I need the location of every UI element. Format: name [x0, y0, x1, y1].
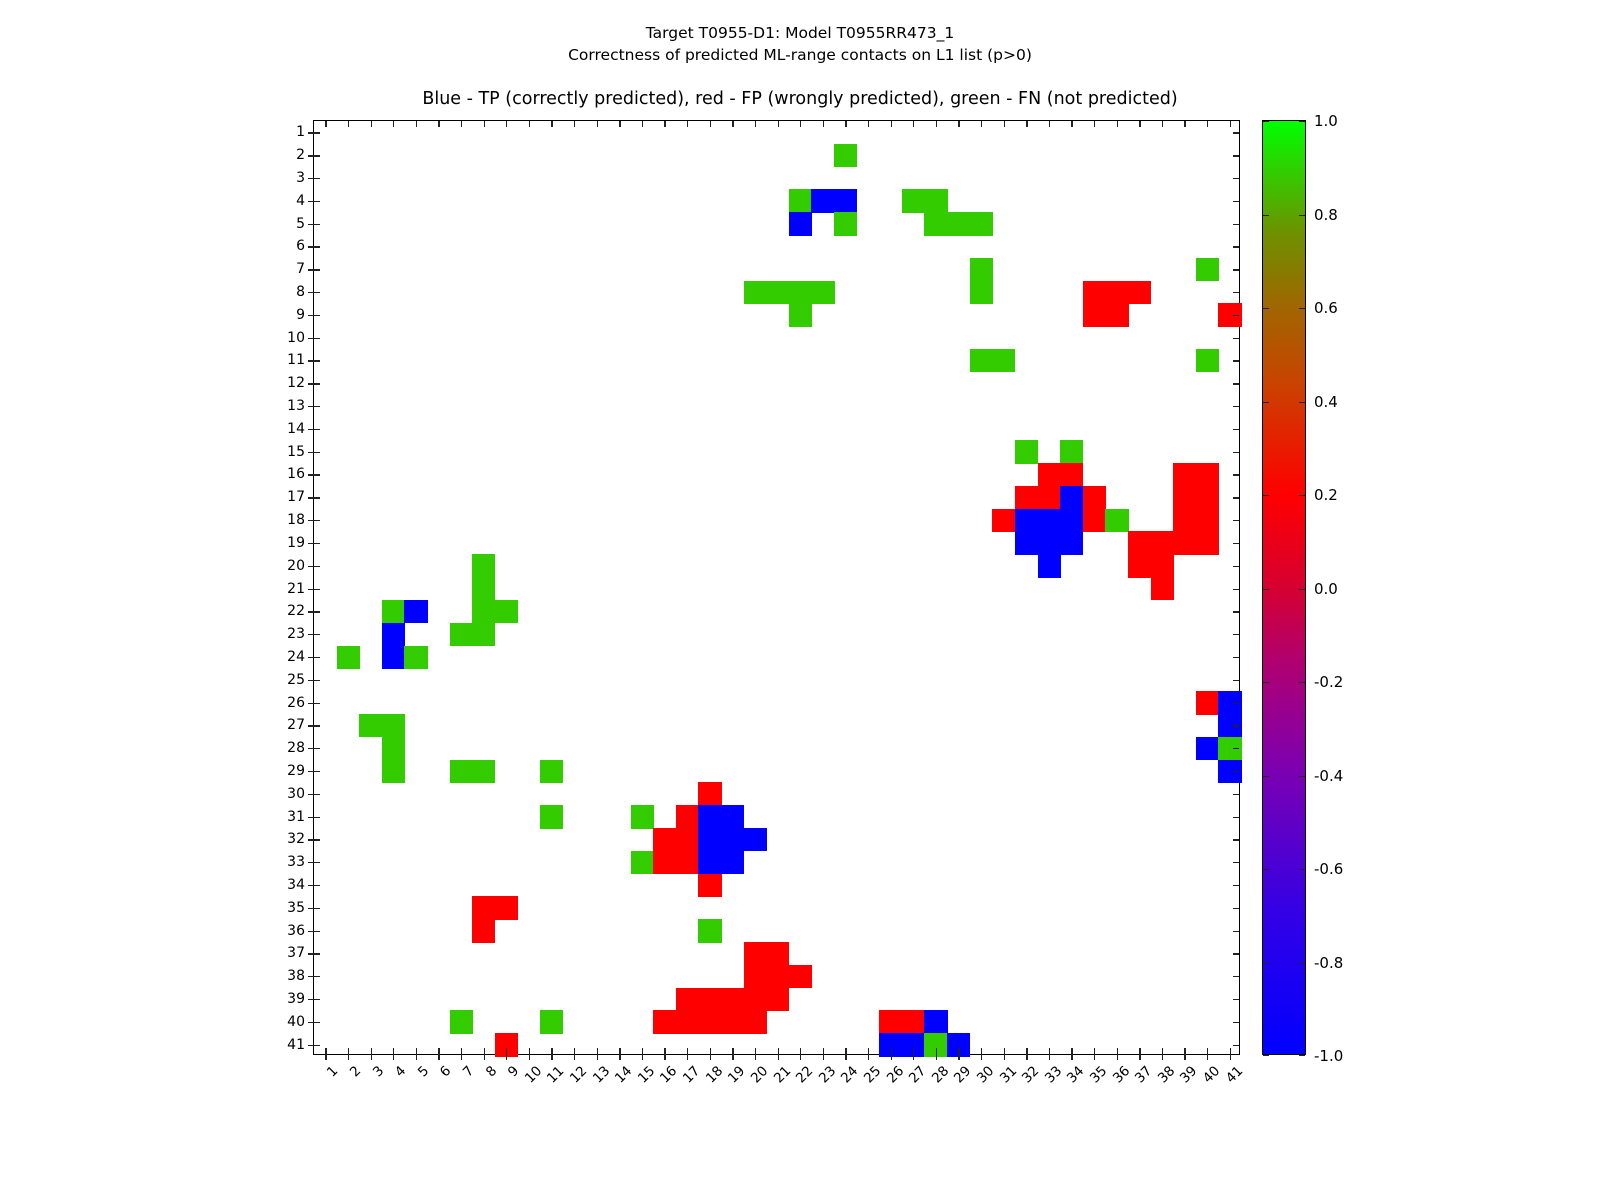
- y-tick-mark-inner: [314, 269, 320, 270]
- y-tick-mark-inner: [314, 817, 320, 818]
- y-tick-mark-inner: [314, 246, 320, 247]
- heatmap-cell: [811, 281, 834, 304]
- x-tick-mark: [1094, 1054, 1095, 1060]
- heatmap-cell: [1083, 486, 1106, 509]
- colorbar-tick-mark-left: [1263, 1055, 1269, 1056]
- colorbar-tick-mark-left: [1263, 776, 1269, 777]
- x-tick-mark-top: [642, 121, 643, 127]
- y-tick-mark-inner: [314, 201, 320, 202]
- y-tick-mark-right: [1233, 725, 1239, 726]
- y-axis-tick-label: 26: [287, 695, 305, 711]
- x-axis-tick-label: 22: [793, 1063, 816, 1086]
- x-tick-mark-inner: [325, 1048, 326, 1054]
- y-axis-tick-label: 39: [287, 991, 305, 1007]
- x-tick-mark-inner: [597, 1048, 598, 1054]
- x-tick-mark: [551, 1054, 552, 1060]
- x-tick-mark-inner: [1184, 1048, 1185, 1054]
- x-tick-mark: [778, 1054, 779, 1060]
- y-axis-tick-label: 3: [296, 170, 305, 186]
- x-tick-mark-top: [710, 121, 711, 127]
- colorbar-tick-mark-left: [1263, 121, 1269, 122]
- x-axis-tick-label: 33: [1042, 1063, 1065, 1086]
- y-axis-tick-label: 28: [287, 740, 305, 756]
- y-axis-tick-label: 19: [287, 535, 305, 551]
- heatmap-cell: [834, 212, 857, 235]
- y-tick-mark-inner: [314, 611, 320, 612]
- heatmap-cell: [1196, 531, 1219, 554]
- y-tick-mark-right: [1233, 360, 1239, 361]
- x-tick-mark: [619, 1054, 620, 1060]
- x-axis-tick-label: 41: [1223, 1063, 1246, 1086]
- y-tick-mark-inner: [314, 292, 320, 293]
- x-tick-mark-inner: [574, 1048, 575, 1054]
- y-tick-mark-right: [1233, 931, 1239, 932]
- heatmap-cell: [1173, 463, 1196, 486]
- contact-map-axes: 1234567891011121314151617181920212223242…: [313, 120, 1240, 1055]
- y-axis-tick-label: 18: [287, 512, 305, 528]
- x-axis-tick-label: 27: [906, 1063, 929, 1086]
- y-tick-mark-inner: [314, 406, 320, 407]
- y-axis-tick-label: 11: [287, 352, 305, 368]
- heatmap-cell: [495, 600, 518, 623]
- heatmap-cell: [744, 281, 767, 304]
- x-tick-mark-top: [619, 121, 620, 127]
- heatmap-cell: [970, 212, 993, 235]
- y-tick-mark-inner: [314, 383, 320, 384]
- y-tick-mark-inner: [314, 360, 320, 361]
- x-axis-tick-label: 38: [1155, 1063, 1178, 1086]
- heatmap-cell: [450, 623, 473, 646]
- colorbar-tick-mark: [1299, 1055, 1305, 1056]
- y-axis-tick-label: 27: [287, 717, 305, 733]
- y-tick-mark-right: [1233, 1022, 1239, 1023]
- x-tick-mark-top: [1207, 121, 1208, 127]
- heatmap-cell: [676, 1010, 699, 1033]
- x-axis-tick-label: 30: [974, 1063, 997, 1086]
- x-tick-mark-top: [778, 121, 779, 127]
- x-tick-mark-inner: [348, 1048, 349, 1054]
- heatmap-cell: [721, 828, 744, 851]
- heatmap-cell: [766, 942, 789, 965]
- heatmap-cell: [337, 646, 360, 669]
- heatmap-cell: [382, 623, 405, 646]
- y-tick-mark-right: [1233, 589, 1239, 590]
- x-tick-mark: [913, 1054, 914, 1060]
- y-tick-mark-inner: [314, 520, 320, 521]
- y-tick-mark-right: [1233, 703, 1239, 704]
- colorbar-gradient: [1263, 121, 1305, 1054]
- heatmap-cell: [902, 189, 925, 212]
- heatmap-cell: [1196, 463, 1219, 486]
- heatmap-cell: [789, 281, 812, 304]
- y-axis-tick-label: 23: [287, 626, 305, 642]
- x-tick-mark-top: [461, 121, 462, 127]
- x-tick-mark-top: [438, 121, 439, 127]
- x-tick-mark-inner: [642, 1048, 643, 1054]
- y-tick-mark-right: [1233, 953, 1239, 954]
- x-tick-mark-inner: [551, 1048, 552, 1054]
- heatmap-cell: [450, 760, 473, 783]
- heatmap-cell: [721, 1010, 744, 1033]
- x-axis-tick-label: 11: [544, 1063, 567, 1086]
- x-tick-mark-top: [551, 121, 552, 127]
- y-axis-tick-label: 12: [287, 375, 305, 391]
- x-tick-mark-inner: [755, 1048, 756, 1054]
- y-axis-tick-label: 4: [296, 193, 305, 209]
- y-tick-mark-right: [1233, 497, 1239, 498]
- heatmap-cell: [698, 828, 721, 851]
- y-tick-mark-inner: [314, 338, 320, 339]
- y-axis-tick-label: 34: [287, 877, 305, 893]
- colorbar-tick-mark: [1299, 402, 1305, 403]
- x-tick-mark: [393, 1054, 394, 1060]
- heatmap-cell: [1105, 303, 1128, 326]
- x-tick-mark-inner: [1026, 1048, 1027, 1054]
- heatmap-cell: [789, 212, 812, 235]
- y-axis-tick-label: 1: [296, 124, 305, 140]
- heatmap-cell: [540, 805, 563, 828]
- x-tick-mark: [868, 1054, 869, 1060]
- heatmap-cell: [472, 623, 495, 646]
- y-tick-mark-right: [1233, 155, 1239, 156]
- colorbar-tick-mark: [1299, 682, 1305, 683]
- y-tick-mark-right: [1233, 520, 1239, 521]
- y-tick-mark-right: [1233, 908, 1239, 909]
- x-axis-tick-label: 40: [1200, 1063, 1223, 1086]
- heatmap-cell: [879, 1010, 902, 1033]
- heatmap-cell: [1060, 440, 1083, 463]
- x-tick-mark-inner: [529, 1048, 530, 1054]
- colorbar-tick-mark: [1299, 121, 1305, 122]
- x-tick-mark: [348, 1054, 349, 1060]
- heatmap-cell: [744, 942, 767, 965]
- color-legend-text: Blue - TP (correctly predicted), red - F…: [0, 89, 1600, 109]
- x-tick-mark-top: [1094, 121, 1095, 127]
- heatmap-cell: [947, 212, 970, 235]
- heatmap-cell: [472, 919, 495, 942]
- heatmap-cell: [1060, 531, 1083, 554]
- y-axis-tick-label: 31: [287, 809, 305, 825]
- y-axis-tick-label: 38: [287, 968, 305, 984]
- x-tick-mark: [574, 1054, 575, 1060]
- y-tick-mark-inner: [314, 839, 320, 840]
- y-tick-mark-inner: [314, 931, 320, 932]
- heatmap-cell: [1060, 486, 1083, 509]
- heatmap-cell: [472, 600, 495, 623]
- x-tick-mark-inner: [1004, 1048, 1005, 1054]
- x-axis-tick-label: 39: [1177, 1063, 1200, 1086]
- colorbar-tick-mark-left: [1263, 869, 1269, 870]
- x-tick-mark-top: [981, 121, 982, 127]
- x-axis-tick-label: 8: [482, 1063, 499, 1080]
- x-axis-tick-label: 20: [748, 1063, 771, 1086]
- x-axis-tick-label: 17: [680, 1063, 703, 1086]
- heatmap-cell: [924, 189, 947, 212]
- x-tick-mark-top: [664, 121, 665, 127]
- x-tick-mark-inner: [1139, 1048, 1140, 1054]
- colorbar-tick-label: 0.8: [1314, 206, 1338, 224]
- x-tick-mark-inner: [1071, 1048, 1072, 1054]
- heatmap-cell: [1196, 258, 1219, 281]
- y-axis-tick-label: 13: [287, 398, 305, 414]
- heatmap-cell: [902, 1010, 925, 1033]
- heatmap-cell: [1015, 440, 1038, 463]
- x-axis-tick-label: 4: [392, 1063, 409, 1080]
- y-tick-mark-inner: [314, 634, 320, 635]
- colorbar-tick-label: -0.2: [1314, 673, 1343, 691]
- heatmap-cell: [698, 782, 721, 805]
- colorbar-tick-label: -1.0: [1314, 1047, 1343, 1065]
- y-tick-mark-inner: [314, 885, 320, 886]
- y-tick-mark-inner: [314, 315, 320, 316]
- x-axis-tick-label: 19: [725, 1063, 748, 1086]
- x-tick-mark-top: [1162, 121, 1163, 127]
- y-axis-tick-label: 15: [287, 444, 305, 460]
- x-tick-mark-inner: [1162, 1048, 1163, 1054]
- heatmap-cell: [698, 988, 721, 1011]
- x-tick-mark: [416, 1054, 417, 1060]
- heatmap-cell: [1128, 554, 1151, 577]
- x-tick-mark: [484, 1054, 485, 1060]
- heatmap-cell: [653, 851, 676, 874]
- x-tick-mark-inner: [619, 1048, 620, 1054]
- x-tick-mark-inner: [393, 1048, 394, 1054]
- heatmap-cell: [382, 714, 405, 737]
- colorbar-tick-mark-left: [1263, 402, 1269, 403]
- colorbar-tick-label: 0.4: [1314, 393, 1338, 411]
- x-tick-mark-inner: [371, 1048, 372, 1054]
- x-tick-mark: [958, 1054, 959, 1060]
- y-tick-mark-right: [1233, 132, 1239, 133]
- colorbar-tick-mark: [1299, 963, 1305, 964]
- x-tick-mark: [461, 1054, 462, 1060]
- x-tick-mark: [1139, 1054, 1140, 1060]
- y-tick-mark-inner: [314, 132, 320, 133]
- heatmap-cell: [698, 919, 721, 942]
- x-tick-mark-inner: [800, 1048, 801, 1054]
- colorbar-tick-mark-left: [1263, 215, 1269, 216]
- heatmap-cell: [1151, 531, 1174, 554]
- heatmap-cell: [811, 189, 834, 212]
- y-axis-tick-label: 2: [296, 147, 305, 163]
- x-axis-tick-label: 26: [883, 1063, 906, 1086]
- y-axis-tick-label: 25: [287, 672, 305, 688]
- y-tick-mark-right: [1233, 862, 1239, 863]
- x-tick-mark: [823, 1054, 824, 1060]
- y-tick-mark-right: [1233, 817, 1239, 818]
- x-tick-mark-inner: [958, 1048, 959, 1054]
- x-tick-mark-inner: [891, 1048, 892, 1054]
- heatmap-cell: [789, 303, 812, 326]
- x-tick-mark: [1184, 1054, 1185, 1060]
- heatmap-cell: [789, 189, 812, 212]
- x-axis-tick-label: 6: [437, 1063, 454, 1080]
- colorbar-tick-mark: [1299, 776, 1305, 777]
- y-tick-mark-right: [1233, 566, 1239, 567]
- heatmap-cell: [721, 988, 744, 1011]
- x-axis-tick-label: 18: [703, 1063, 726, 1086]
- x-tick-mark-top: [868, 121, 869, 127]
- heatmap-cell: [970, 258, 993, 281]
- title-line-2: Correctness of predicted ML-range contac…: [0, 44, 1600, 66]
- y-tick-mark-inner: [314, 452, 320, 453]
- x-axis-tick-label: 7: [460, 1063, 477, 1080]
- y-tick-mark-right: [1233, 657, 1239, 658]
- colorbar-tick-mark: [1299, 495, 1305, 496]
- colorbar-tick-label: -0.6: [1314, 860, 1343, 878]
- heatmap-cell: [472, 577, 495, 600]
- x-tick-mark: [1026, 1054, 1027, 1060]
- x-tick-mark-top: [1026, 121, 1027, 127]
- heatmap-cell: [472, 760, 495, 783]
- heatmap-cell: [744, 988, 767, 1011]
- heatmap-cell: [834, 144, 857, 167]
- y-axis-tick-label: 21: [287, 581, 305, 597]
- x-tick-mark-inner: [1230, 1048, 1231, 1054]
- y-axis-tick-label: 14: [287, 421, 305, 437]
- y-axis-tick-label: 7: [296, 261, 305, 277]
- colorbar-tick-mark: [1299, 215, 1305, 216]
- heatmap-cell: [676, 805, 699, 828]
- x-tick-mark-top: [1004, 121, 1005, 127]
- heatmap-cell: [1015, 509, 1038, 532]
- x-tick-mark-top: [484, 121, 485, 127]
- x-tick-mark-inner: [823, 1048, 824, 1054]
- y-tick-mark-right: [1233, 178, 1239, 179]
- y-tick-mark-right: [1233, 794, 1239, 795]
- heatmap-cell: [992, 509, 1015, 532]
- x-tick-mark-top: [348, 121, 349, 127]
- heatmap-cell: [698, 805, 721, 828]
- y-tick-mark-right: [1233, 474, 1239, 475]
- y-tick-mark-right: [1233, 383, 1239, 384]
- colorbar-tick-mark-left: [1263, 495, 1269, 496]
- heatmap-cell: [1105, 509, 1128, 532]
- heatmap-cell: [472, 896, 495, 919]
- x-axis-tick-label: 32: [1019, 1063, 1042, 1086]
- y-tick-mark-right: [1233, 224, 1239, 225]
- y-tick-mark-right: [1233, 885, 1239, 886]
- x-tick-mark-top: [958, 121, 959, 127]
- x-axis-tick-label: 25: [861, 1063, 884, 1086]
- y-tick-mark-inner: [314, 543, 320, 544]
- heatmap-cell: [744, 965, 767, 988]
- y-tick-mark-right: [1233, 839, 1239, 840]
- colorbar-tick-label: 0.0: [1314, 580, 1338, 598]
- x-axis-tick-label: 14: [612, 1063, 635, 1086]
- x-tick-mark: [936, 1054, 937, 1060]
- y-tick-mark-inner: [314, 680, 320, 681]
- x-tick-mark: [1117, 1054, 1118, 1060]
- heatmap-cell: [744, 828, 767, 851]
- heatmap-cell: [1060, 509, 1083, 532]
- y-tick-mark-right: [1233, 634, 1239, 635]
- y-axis-tick-label: 9: [296, 307, 305, 323]
- y-axis-tick-label: 33: [287, 854, 305, 870]
- x-tick-mark-top: [1049, 121, 1050, 127]
- heatmap-cell: [1038, 531, 1061, 554]
- heatmap-cell: [1083, 281, 1106, 304]
- figure-title: Target T0955-D1: Model T0955RR473_1 Corr…: [0, 22, 1600, 66]
- heatmap-cell: [721, 851, 744, 874]
- heatmap-cell: [766, 965, 789, 988]
- x-axis-tick-label: 16: [657, 1063, 680, 1086]
- y-tick-mark-inner: [314, 155, 320, 156]
- x-tick-mark: [891, 1054, 892, 1060]
- heatmap-cell: [540, 1010, 563, 1033]
- x-tick-mark: [506, 1054, 507, 1060]
- x-tick-mark-inner: [484, 1048, 485, 1054]
- colorbar-tick-label: 1.0: [1314, 112, 1338, 130]
- heatmap-cell: [698, 851, 721, 874]
- y-tick-mark-right: [1233, 246, 1239, 247]
- x-axis-tick-label: 34: [1064, 1063, 1087, 1086]
- y-tick-mark-inner: [314, 474, 320, 475]
- x-axis-tick-label: 1: [324, 1063, 341, 1080]
- heatmap-cell: [1128, 281, 1151, 304]
- heatmap-cell: [382, 737, 405, 760]
- y-tick-mark-right: [1233, 315, 1239, 316]
- y-tick-mark-inner: [314, 953, 320, 954]
- y-tick-mark-inner: [314, 771, 320, 772]
- x-tick-mark: [732, 1054, 733, 1060]
- x-tick-mark-inner: [845, 1048, 846, 1054]
- y-tick-mark-right: [1233, 406, 1239, 407]
- x-tick-mark: [438, 1054, 439, 1060]
- x-tick-mark-inner: [438, 1048, 439, 1054]
- x-tick-mark-inner: [506, 1048, 507, 1054]
- heatmap-cell: [1173, 486, 1196, 509]
- y-tick-mark-right: [1233, 680, 1239, 681]
- colorbar-tick-mark-left: [1263, 682, 1269, 683]
- heatmap-cell: [924, 212, 947, 235]
- heatmap-cell: [698, 1010, 721, 1033]
- y-tick-mark-inner: [314, 999, 320, 1000]
- x-axis-tick-label: 28: [929, 1063, 952, 1086]
- x-tick-mark: [529, 1054, 530, 1060]
- x-tick-mark-inner: [778, 1048, 779, 1054]
- heatmap-cell: [495, 896, 518, 919]
- heatmap-cell: [698, 874, 721, 897]
- colorbar-tick-mark: [1299, 869, 1305, 870]
- y-axis-tick-label: 16: [287, 466, 305, 482]
- heatmap-cell: [631, 851, 654, 874]
- heatmap-cell: [1105, 281, 1128, 304]
- y-tick-mark-right: [1233, 201, 1239, 202]
- colorbar-tick-mark-left: [1263, 308, 1269, 309]
- x-axis-tick-label: 13: [589, 1063, 612, 1086]
- y-tick-mark-right: [1233, 338, 1239, 339]
- y-tick-mark-right: [1233, 748, 1239, 749]
- y-tick-mark-right: [1233, 999, 1239, 1000]
- heatmap-cell: [970, 349, 993, 372]
- heatmap-cell: [404, 646, 427, 669]
- y-axis-tick-label: 32: [287, 831, 305, 847]
- x-tick-mark-inner: [1207, 1048, 1208, 1054]
- x-tick-mark-inner: [687, 1048, 688, 1054]
- heatmap-cell: [1038, 463, 1061, 486]
- y-axis-tick-label: 20: [287, 558, 305, 574]
- x-axis-tick-label: 37: [1132, 1063, 1155, 1086]
- colorbar-tick-label: 0.2: [1314, 486, 1338, 504]
- heatmap-cell: [1038, 509, 1061, 532]
- x-tick-mark: [1162, 1054, 1163, 1060]
- y-tick-mark-inner: [314, 1022, 320, 1023]
- x-tick-mark-top: [597, 121, 598, 127]
- y-tick-mark-inner: [314, 794, 320, 795]
- x-axis-tick-label: 36: [1109, 1063, 1132, 1086]
- heatmap-cell: [382, 760, 405, 783]
